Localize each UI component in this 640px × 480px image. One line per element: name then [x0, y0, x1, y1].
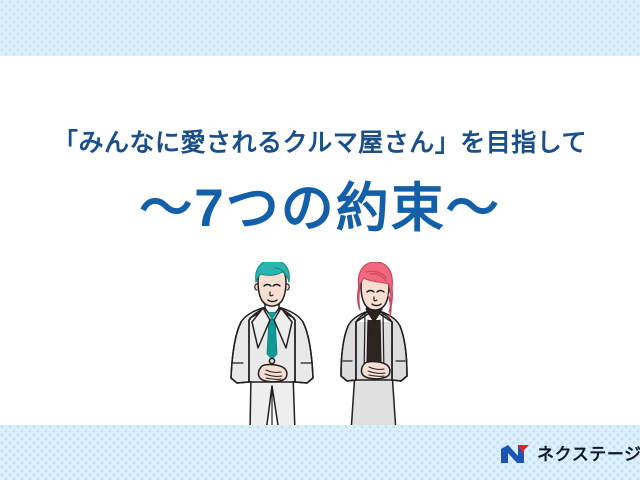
poster-subheading: 「みんなに愛されるクルマ屋さん」を目指して — [0, 126, 640, 160]
male-staff-figure — [231, 262, 313, 432]
staff-illustration — [0, 262, 640, 442]
poster-canvas: 「みんなに愛されるクルマ屋さん」を目指して 〜7つの約束〜 — [0, 0, 640, 480]
female-staff-figure — [341, 262, 407, 432]
nextage-n-logo-icon — [500, 443, 530, 465]
nextage-logo-text: ネクステージ — [537, 446, 640, 463]
top-dotted-band — [0, 0, 640, 56]
poster-headline: 〜7つの約束〜 — [0, 176, 640, 242]
nextage-logo: ネクステージ — [500, 441, 640, 467]
